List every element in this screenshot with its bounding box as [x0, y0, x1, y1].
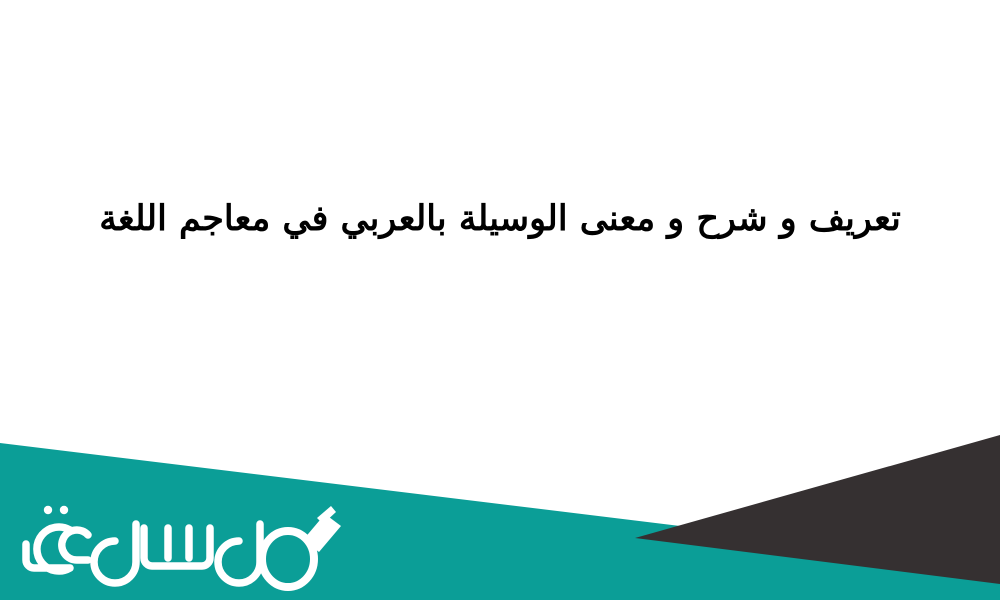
page-title: تعريف و شرح و معنى الوسيلة بالعربي في مع…: [99, 196, 901, 242]
logo-letter-ain: [62, 530, 88, 560]
brand-logo[interactable]: موسوعة: [14, 488, 344, 592]
page-title-container: تعريف و شرح و معنى الوسيلة بالعربي في مع…: [0, 196, 1000, 242]
article-thumbnail-banner: تعريف و شرح و معنى الوسيلة بالعربي في مع…: [0, 0, 1000, 600]
logo-letter-waw: [218, 524, 260, 583]
brand-logo-mark: موسوعة: [14, 488, 344, 592]
magnifier-icon: [262, 506, 341, 587]
logo-letter-seen: [144, 528, 210, 566]
logo-letter-waw-2: [94, 524, 136, 583]
